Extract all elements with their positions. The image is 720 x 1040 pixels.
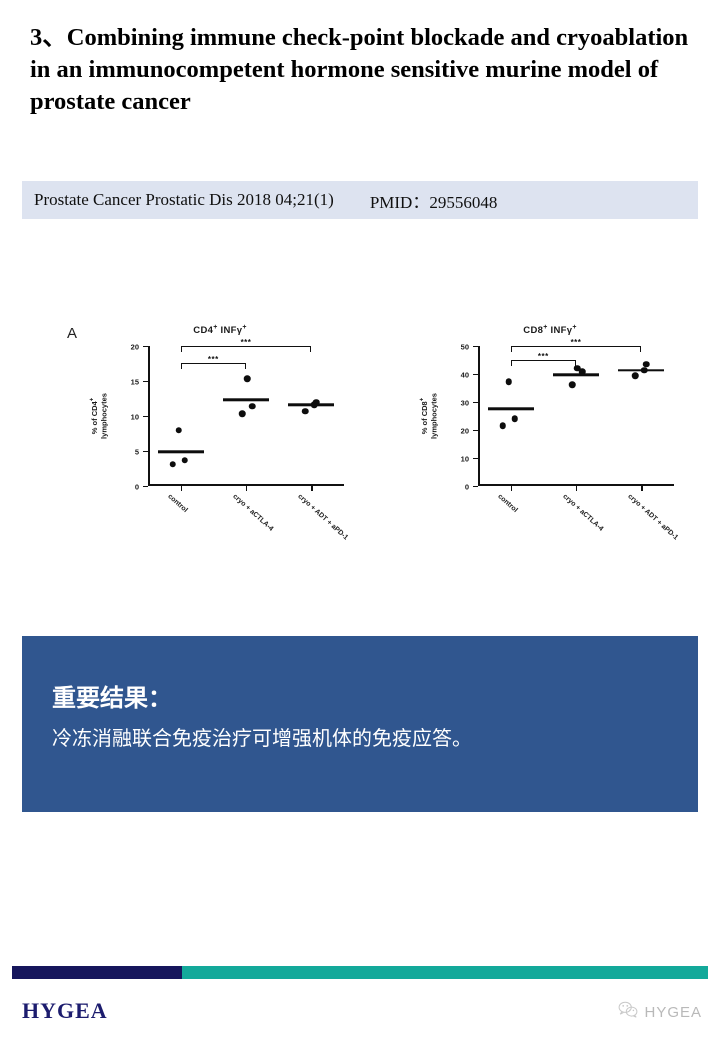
y-tick: 40 <box>473 374 478 375</box>
y-tick-label: 50 <box>461 342 469 351</box>
y-tick-label: 0 <box>465 482 469 491</box>
data-point <box>499 423 506 430</box>
y-tick-label: 10 <box>461 454 469 463</box>
y-tick-label: 0 <box>135 482 139 491</box>
data-point <box>175 427 182 434</box>
x-axis-label: control <box>496 493 518 514</box>
y-tick: 15 <box>143 381 148 382</box>
chart-cd8: CD8+ INFγ+ % of CD8+ lymphocytes 0102030… <box>400 300 700 590</box>
significance-label: *** <box>182 355 245 364</box>
footer-bar-navy <box>12 966 182 979</box>
chart-cd4-y-label-line1: % of CD4 <box>90 401 99 434</box>
y-tick: 5 <box>143 451 148 452</box>
data-point <box>574 365 581 372</box>
data-point <box>302 408 309 415</box>
footer-bar-teal <box>182 966 708 979</box>
chart-cd8-plot: % of CD8+ lymphocytes 01020304050 ******… <box>478 346 674 486</box>
chart-cd8-y-label-sup: + <box>419 398 425 402</box>
chart-cd4-y-axis-label: % of CD4+ lymphocytes <box>88 368 108 464</box>
figure-panel-a: A CD4+ INFγ+ % of CD4+ lymphocytes 05101… <box>22 300 698 590</box>
data-point <box>505 378 512 385</box>
chart-cd8-title-cyto: INFγ <box>551 325 573 336</box>
data-point <box>239 411 246 418</box>
chart-cd8-y-label-line2: lymphocytes <box>429 393 438 439</box>
chart-cd8-title-sup2: + <box>572 324 576 331</box>
significance-bracket: *** <box>181 363 246 369</box>
data-point <box>181 457 188 464</box>
y-tick: 50 <box>473 346 478 347</box>
x-axis-label: cryo + aCTLA-4 <box>231 493 274 533</box>
mean-line <box>618 369 664 372</box>
mean-line <box>158 450 204 453</box>
y-tick-label: 30 <box>461 398 469 407</box>
y-tick: 20 <box>143 346 148 347</box>
chart-cd4-title-sup1: + <box>213 324 217 331</box>
chart-cd4-y-label-line2: lymphocytes <box>99 393 108 439</box>
mean-line <box>553 373 599 376</box>
chart-cd8-title-marker: CD8 <box>523 325 543 336</box>
y-tick: 10 <box>473 458 478 459</box>
x-axis-label: cryo + ADT + aPD-1 <box>297 493 350 542</box>
y-tick: 0 <box>473 486 478 487</box>
y-tick-label: 20 <box>461 426 469 435</box>
x-tick <box>311 486 312 491</box>
mean-line <box>223 399 269 402</box>
significance-label: *** <box>512 352 575 361</box>
y-tick-label: 5 <box>135 447 139 456</box>
conclusion-box: 重要结果： 冷冻消融联合免疫治疗可增强机体的免疫应答。 <box>22 636 698 812</box>
chart-cd4-title-marker: CD4 <box>193 325 213 336</box>
data-point <box>249 403 256 410</box>
chart-cd8-y-axis <box>478 346 480 486</box>
chart-cd4-plot: % of CD4+ lymphocytes 05101520 ****** co… <box>148 346 344 486</box>
y-tick-label: 15 <box>131 377 139 386</box>
x-tick <box>511 486 512 491</box>
citation-journal: Prostate Cancer Prostatic Dis 2018 04;21… <box>34 190 334 210</box>
data-point <box>169 461 176 468</box>
citation-pmid: PMID：29556048 <box>370 188 498 213</box>
data-point <box>643 361 650 368</box>
y-tick-label: 40 <box>461 370 469 379</box>
x-tick <box>641 486 642 491</box>
y-tick-label: 10 <box>131 412 139 421</box>
x-tick <box>576 486 577 491</box>
chart-cd4-title-cyto: INFγ <box>221 325 243 336</box>
x-axis-label: cryo + ADT + aPD-1 <box>627 493 680 542</box>
footer-wechat: HYGEA <box>618 1001 702 1023</box>
chart-cd4-title-sup2: + <box>242 324 246 331</box>
mean-line <box>288 404 334 407</box>
conclusion-text: 冷冻消融联合免疫治疗可增强机体的免疫应答。 <box>52 722 472 751</box>
data-point <box>244 376 251 383</box>
chart-cd8-y-label-line1: % of CD8 <box>420 401 429 434</box>
data-point <box>632 373 639 380</box>
conclusion-heading: 重要结果： <box>52 678 172 713</box>
wechat-icon <box>618 1001 638 1023</box>
y-tick-label: 20 <box>131 342 139 351</box>
data-point <box>569 381 576 388</box>
y-tick: 30 <box>473 402 478 403</box>
data-point <box>511 416 518 423</box>
mean-line <box>488 407 534 410</box>
x-axis-label: cryo + aCTLA-4 <box>561 493 604 533</box>
footer-logo: HYGEA <box>22 998 108 1024</box>
chart-cd8-y-axis-label: % of CD8+ lymphocytes <box>418 368 438 464</box>
y-tick: 20 <box>473 430 478 431</box>
chart-cd4-y-label-sup: + <box>89 398 95 402</box>
x-tick <box>246 486 247 491</box>
chart-cd8-title: CD8+ INFγ+ <box>400 324 700 336</box>
chart-cd4-y-axis <box>148 346 150 486</box>
significance-bracket: *** <box>511 360 576 366</box>
chart-cd4-title: CD4+ INFγ+ <box>70 324 370 336</box>
significance-label: *** <box>512 338 641 347</box>
y-tick: 0 <box>143 486 148 487</box>
chart-cd8-title-sup1: + <box>543 324 547 331</box>
x-axis-label: control <box>166 493 188 514</box>
chart-cd4: CD4+ INFγ+ % of CD4+ lymphocytes 0510152… <box>70 300 370 590</box>
significance-label: *** <box>182 338 311 347</box>
y-tick: 10 <box>143 416 148 417</box>
significance-bracket: *** <box>511 346 642 352</box>
footer-wechat-label: HYGEA <box>644 1004 702 1021</box>
x-tick <box>181 486 182 491</box>
significance-bracket: *** <box>181 346 312 352</box>
page-title: 3、Combining immune check-point blockade … <box>30 22 690 118</box>
citation-bar: Prostate Cancer Prostatic Dis 2018 04;21… <box>22 181 698 219</box>
